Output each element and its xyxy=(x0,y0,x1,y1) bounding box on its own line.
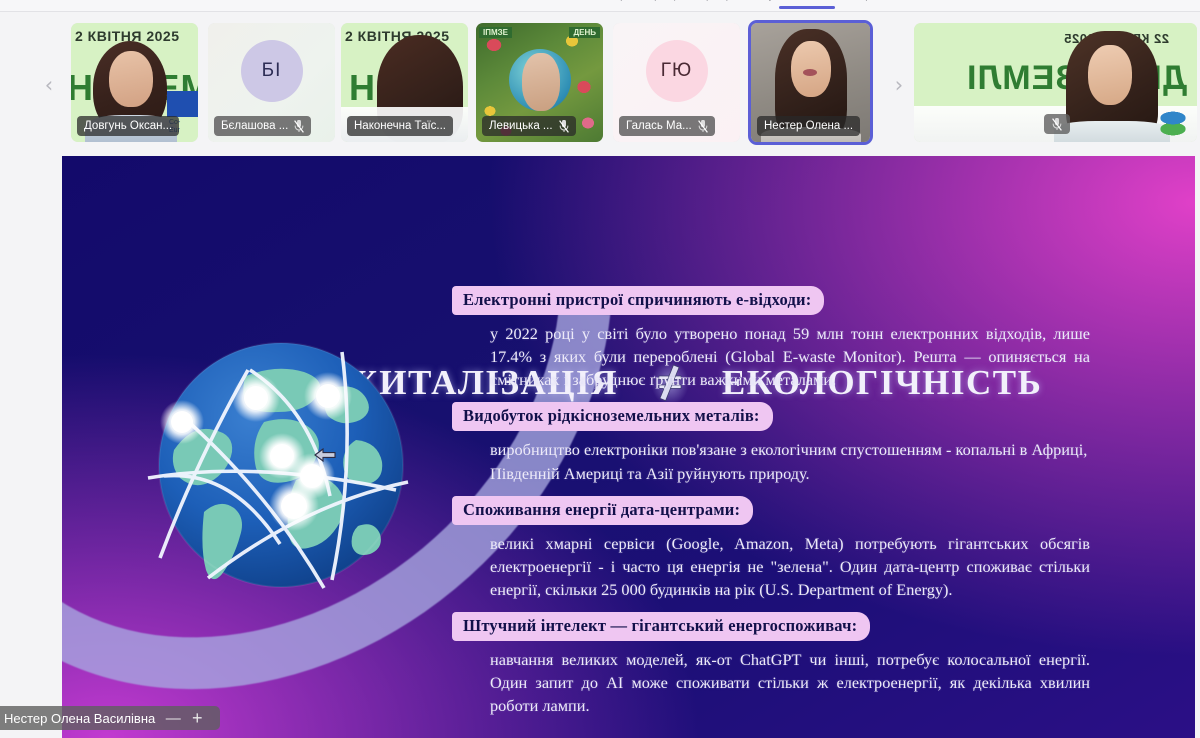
mic-off-icon xyxy=(1052,118,1062,131)
block-body-text: виробництво електроніки пов'язане з екол… xyxy=(490,438,1090,484)
participant-tile[interactable]: 22 КВІТНЯ 2025 ДЕНЬ ЗЕМЛІ Co-funded by t… xyxy=(914,23,1197,142)
tile-video: 22 КВІТНЯ 2025 ДЕНЬ ЗЕМЛІ Co-funded by t… xyxy=(914,23,1197,142)
zoom-in-button[interactable]: + xyxy=(185,708,209,729)
tile-name-text: Левицька ... xyxy=(489,120,553,132)
tile-mute-chip xyxy=(1044,114,1070,134)
block-heading-chip: Штучний інтелект — гігантський енергоспо… xyxy=(452,612,870,641)
globe-network-icon xyxy=(146,330,416,600)
presenter-zoom-overlay[interactable]: Нестер Олена Василівна — + xyxy=(0,706,220,730)
avatar: БІ xyxy=(241,40,303,102)
zoom-out-button[interactable]: — xyxy=(161,710,185,727)
person-mouth xyxy=(803,69,817,76)
avatar-initials: ГЮ xyxy=(661,60,692,82)
tile-name-label: Галась Ма... xyxy=(619,116,715,136)
presenter-name-label: Нестер Олена Василівна xyxy=(4,711,161,726)
block-body-text: великі хмарні сервіси (Google, Amazon, M… xyxy=(490,532,1090,601)
tile-name-label: Довгунь Оксан... xyxy=(77,116,179,136)
mic-off-icon xyxy=(698,120,708,133)
block-body-text: навчання великих моделей, як-от ChatGPT … xyxy=(490,648,1090,717)
tile-name-text: Довгунь Оксан... xyxy=(84,120,172,132)
tile-name-label: Нестер Олена ... xyxy=(757,116,860,136)
tile-name-text: Наконечна Таїс... xyxy=(354,120,446,132)
tile-name-label: Левицька ... xyxy=(482,116,576,136)
chevron-left-icon[interactable]: ‹ xyxy=(38,74,60,96)
block-heading-chip: Електронні пристрої спричиняють е-відход… xyxy=(452,286,824,315)
badge-left: ІПМЗЕ xyxy=(479,27,512,38)
mic-off-icon xyxy=(559,120,569,133)
tile-name-text: Бєлашова ... xyxy=(221,120,288,132)
mic-off-icon xyxy=(294,120,304,133)
poster-eu-flag xyxy=(167,91,198,117)
participant-tile[interactable]: ГЮ Галась Ма... xyxy=(613,23,740,142)
person-shoulders xyxy=(1054,121,1170,142)
tile-name-label: Наконечна Таїс... xyxy=(347,116,453,136)
tab-bar-text: реєстрація · програма · учасники · матер… xyxy=(620,0,963,1)
participant-tile-active-speaker[interactable]: Нестер Олена ... xyxy=(748,20,873,145)
person-face xyxy=(522,53,560,111)
chevron-right-icon[interactable]: › xyxy=(888,74,910,96)
person-face xyxy=(1088,45,1132,105)
badge-right: ДЕНЬ xyxy=(569,27,600,38)
avatar-initials: БІ xyxy=(262,60,282,82)
avatar: ГЮ xyxy=(646,40,708,102)
block-heading-chip: Споживання енергії дата-центрами: xyxy=(452,496,753,525)
content-block: Електронні пристрої спричиняють е-відход… xyxy=(452,286,1112,391)
tile-name-label: Бєлашова ... xyxy=(214,116,311,136)
organization-logo xyxy=(1155,110,1191,138)
participant-tile[interactable]: ІПМЗЕ ДЕНЬ Левицька ... xyxy=(476,23,603,142)
tile-name-text: Нестер Олена ... xyxy=(764,120,853,132)
tile-name-text: Галась Ма... xyxy=(626,120,692,132)
participant-tile[interactable]: 2 КВІТНЯ 2025 НЬ Наконечна Таїс... xyxy=(341,23,468,142)
block-heading-chip: Видобуток рідкісноземельних металів: xyxy=(452,402,773,431)
block-body-text: у 2022 році у світі було утворено понад … xyxy=(490,322,1090,391)
slide-content-blocks: Електронні пристрої спричиняють е-відход… xyxy=(452,286,1112,729)
content-block: Видобуток рідкісноземельних металів: вир… xyxy=(452,402,1112,484)
participant-tile[interactable]: 2 КВІТНЯ 2025 НЬ ЗЕМ Co-Eur Довгунь Окса… xyxy=(71,23,198,142)
content-block: Штучний інтелект — гігантський енергоспо… xyxy=(452,612,1112,717)
presentation-slide[interactable]: 1. ДИДЖИТАЛІЗАЦІЯ ЕКОЛОГІЧНІСТЬ xyxy=(62,156,1195,738)
participant-tile[interactable]: БІ Бєлашова ... xyxy=(208,23,335,142)
content-block: Споживання енергії дата-центрами: великі… xyxy=(452,496,1112,601)
participant-filmstrip: ‹ › 2 КВІТНЯ 2025 НЬ ЗЕМ Co-Eur Довгунь … xyxy=(0,12,1200,153)
person-face xyxy=(109,51,153,107)
active-tab-indicator[interactable] xyxy=(779,6,835,9)
